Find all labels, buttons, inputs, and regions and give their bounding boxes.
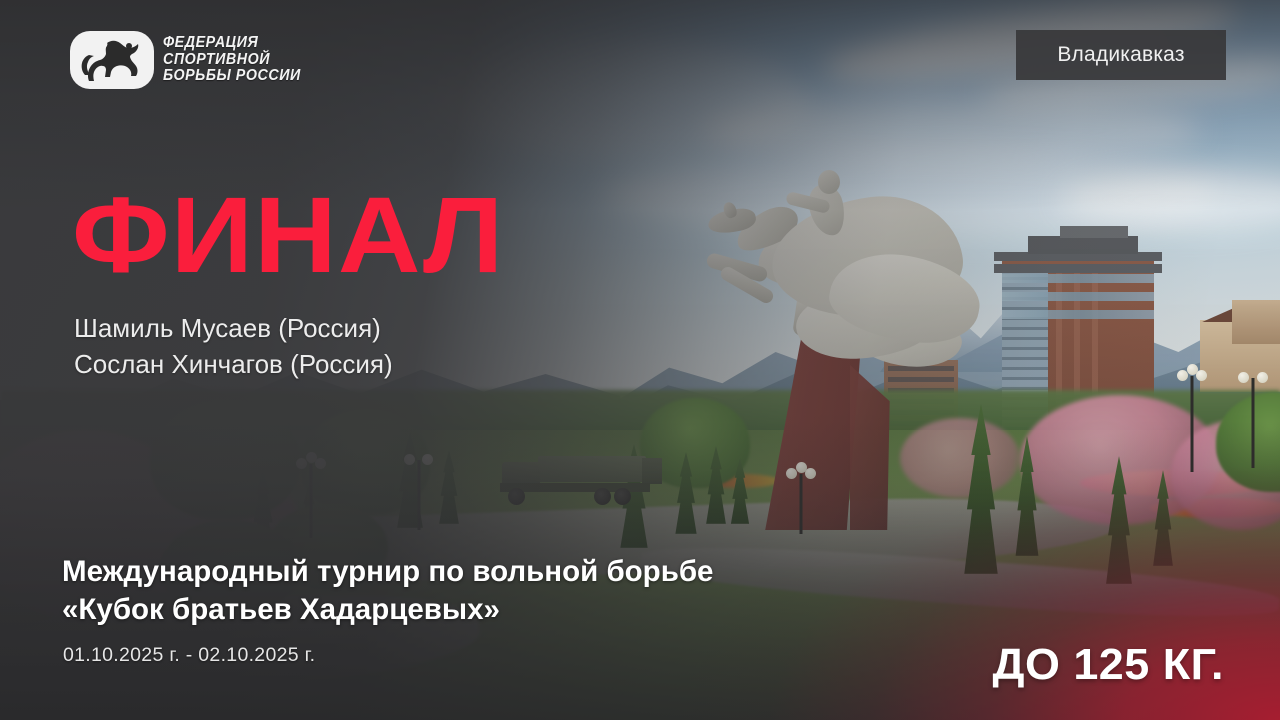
logo-line-1: ФЕДЕРАЦИЯ [163, 35, 301, 52]
poster-content: ФЕДЕРАЦИЯ СПОРТИВНОЙ БОРЬБЫ РОССИИ Влади… [0, 0, 1280, 720]
tournament-title-line-1: Международный турнир по вольной борьбе [62, 553, 713, 591]
athlete-name: Сослан Хинчагов (Россия) [74, 347, 393, 383]
city-badge: Владикавказ [1016, 30, 1226, 80]
tournament-title-line-2: «Кубок братьев Хадарцевых» [62, 591, 713, 629]
poster-canvas: ФЕДЕРАЦИЯ СПОРТИВНОЙ БОРЬБЫ РОССИИ Влади… [0, 0, 1280, 720]
tournament-title: Международный турнир по вольной борьбе «… [62, 553, 713, 629]
city-badge-label: Владикавказ [1057, 43, 1184, 67]
athlete-name: Шамиль Мусаев (Россия) [74, 311, 393, 347]
athletes-list: Шамиль Мусаев (Россия) Сослан Хинчагов (… [74, 311, 393, 383]
federation-logo-text: ФЕДЕРАЦИЯ СПОРТИВНОЙ БОРЬБЫ РОССИИ [163, 35, 313, 85]
weight-class-label: ДО 125 КГ. [992, 640, 1224, 690]
wrestling-bears-icon [70, 31, 154, 89]
logo-line-2: СПОРТИВНОЙ [163, 52, 301, 69]
logo-line-3: БОРЬБЫ РОССИИ [163, 68, 301, 85]
federation-logo[interactable]: ФЕДЕРАЦИЯ СПОРТИВНОЙ БОРЬБЫ РОССИИ [70, 31, 313, 89]
tournament-dates: 01.10.2025 г. - 02.10.2025 г. [63, 644, 315, 667]
page-title: ФИНАЛ [72, 181, 504, 289]
